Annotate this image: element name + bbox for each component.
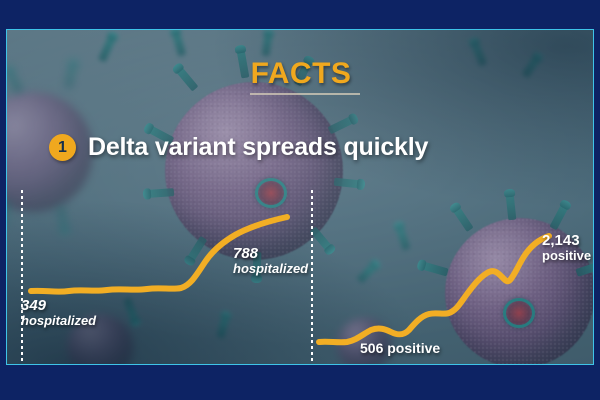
- title-underline: [250, 93, 360, 95]
- step-number-badge: 1: [49, 134, 76, 161]
- chart-positive-line: [311, 190, 593, 365]
- broadcast-graphic-frame: FACTS 1 Delta variant spreads quickly Ju…: [0, 0, 600, 400]
- label-hospitalized-end: 788 hospitalized: [233, 246, 308, 276]
- label-positive-end: 2,143 positive: [542, 233, 591, 263]
- label-positive-end-number: 2,143: [542, 233, 591, 249]
- chart-positive-x-axis: [311, 364, 593, 365]
- label-hospitalized-start: 349 hospitalized: [21, 298, 96, 328]
- label-positive-start: 506 positive: [360, 340, 440, 357]
- label-hospitalized-end-unit: hospitalized: [233, 262, 308, 276]
- label-positive-start-number: 506: [360, 340, 387, 356]
- chart-positive: July 1 Aug. 1: [311, 190, 593, 365]
- chart-hospitalized-x-axis: [21, 364, 299, 365]
- label-positive-start-unit: positive: [387, 340, 440, 356]
- label-hospitalized-start-unit: hospitalized: [21, 314, 96, 328]
- headline-row: 1 Delta variant spreads quickly: [49, 133, 428, 162]
- chart-hospitalized: July 1 Aug. 1: [21, 190, 299, 365]
- page-title: FACTS: [7, 57, 594, 91]
- label-positive-end-unit: positive: [542, 249, 591, 263]
- headline-text: Delta variant spreads quickly: [88, 133, 428, 162]
- graphic-panel: FACTS 1 Delta variant spreads quickly Ju…: [6, 29, 594, 365]
- label-hospitalized-end-number: 788: [233, 246, 308, 262]
- chart-hospitalized-line: [21, 190, 299, 365]
- label-hospitalized-start-number: 349: [21, 298, 96, 314]
